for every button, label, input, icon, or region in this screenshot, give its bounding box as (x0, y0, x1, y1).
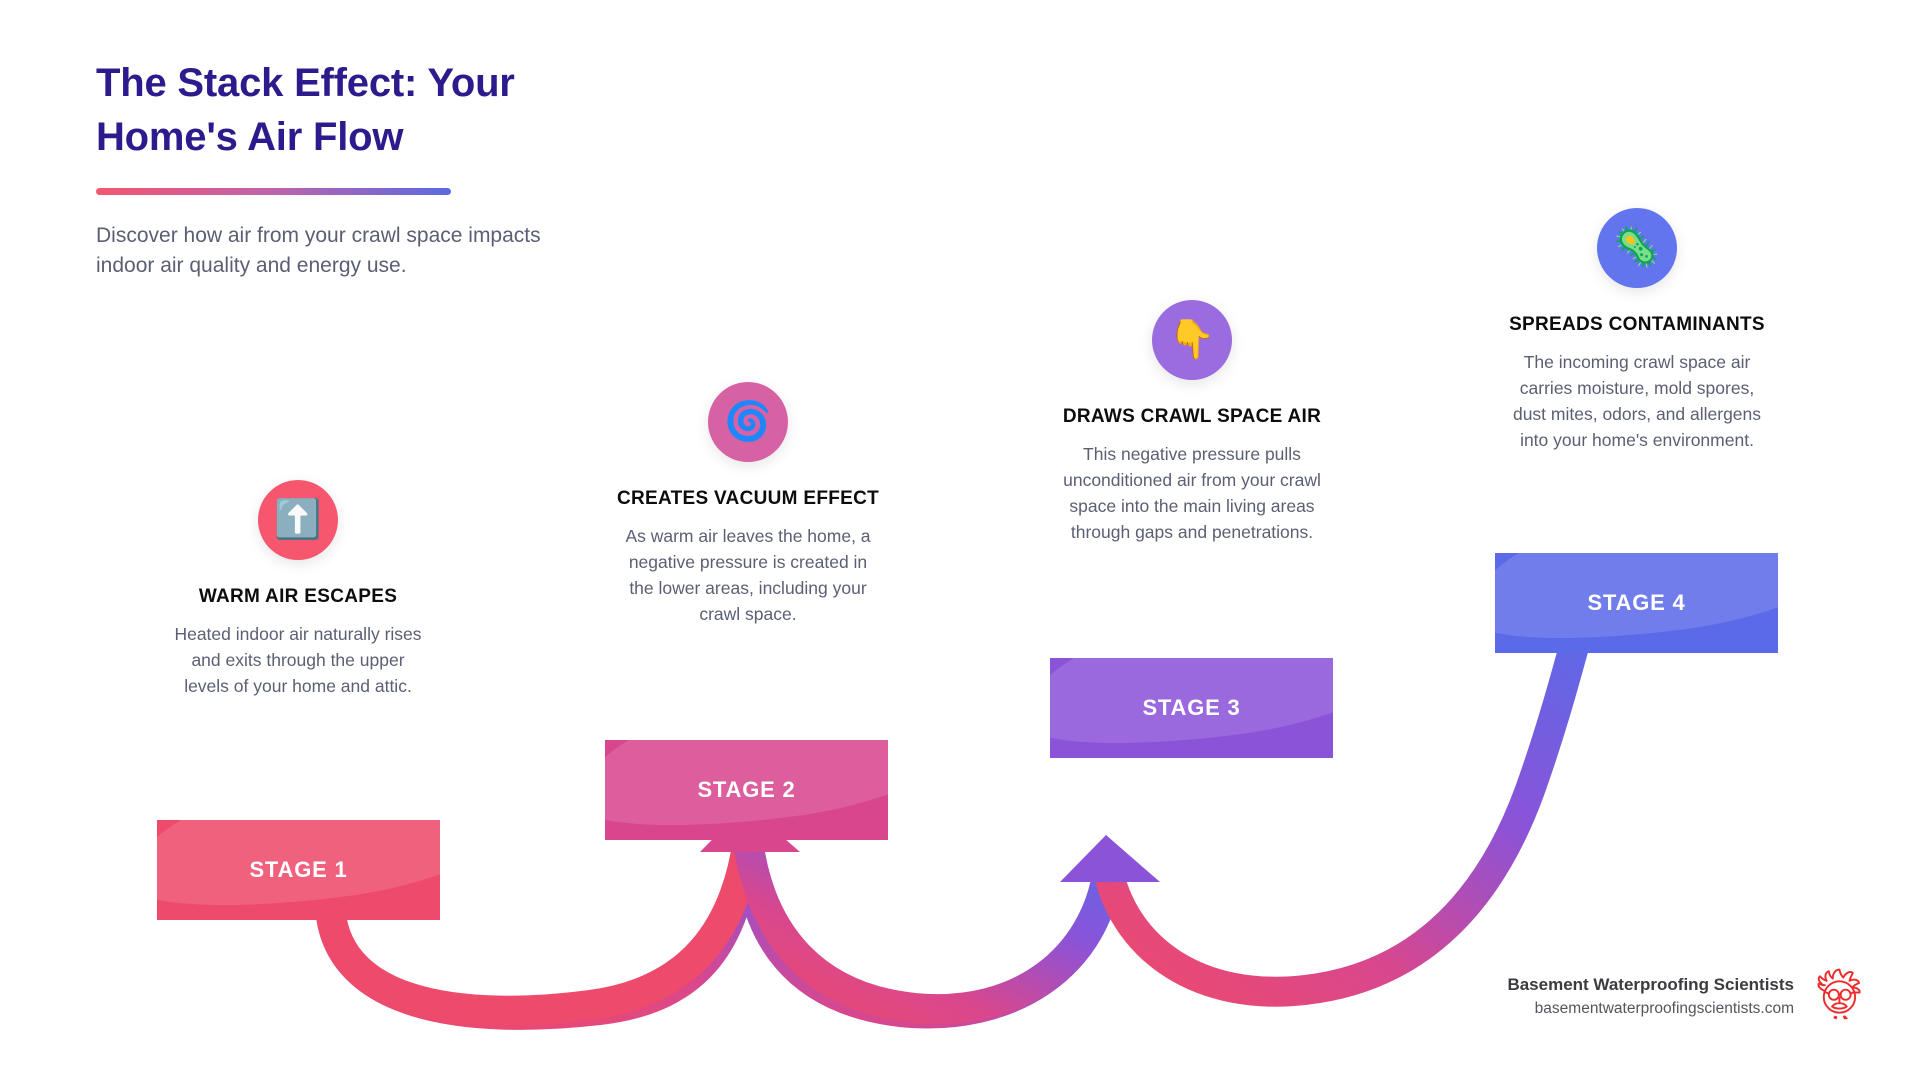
microbe-icon-glyph: 🦠 (1613, 229, 1660, 267)
up-arrow-icon-glyph: ⬆️ (274, 501, 321, 539)
stage-description-1: Heated indoor air naturally rises and ex… (148, 622, 448, 700)
stage-badge-2: STAGE 2 (697, 777, 795, 803)
page-title: The Stack Effect: Your Home's Air Flow (96, 56, 716, 164)
stage-banner-2[interactable]: STAGE 2 (605, 740, 888, 840)
stage-heading-1: WARM AIR ESCAPES (148, 586, 448, 608)
footer-block: Basement Waterproofing Scientists baseme… (1507, 966, 1868, 1028)
title-underline-rule (96, 188, 451, 195)
pointing-down-icon: 👇 (1152, 300, 1232, 380)
stage-column-4: 🦠 SPREADS CONTAMINANTS The incoming craw… (1487, 208, 1787, 454)
scientist-face-logo (1812, 966, 1868, 1028)
cyclone-icon-glyph: 🌀 (724, 403, 771, 441)
stage-column-3: 👇 DRAWS CRAWL SPACE AIR This negative pr… (1042, 300, 1342, 546)
stage-description-3: This negative pressure pulls uncondition… (1042, 442, 1342, 546)
stage-banner-3[interactable]: STAGE 3 (1050, 658, 1333, 758)
page-subtitle: Discover how air from your crawl space i… (96, 221, 576, 282)
stage-column-1: ⬆️ WARM AIR ESCAPES Heated indoor air na… (148, 480, 448, 700)
pointing-down-icon-glyph: 👇 (1168, 321, 1215, 359)
header-block: The Stack Effect: Your Home's Air Flow D… (96, 56, 716, 282)
up-arrow-icon: ⬆️ (258, 480, 338, 560)
stage-description-2: As warm air leaves the home, a negative … (598, 524, 898, 628)
stage-heading-2: CREATES VACUUM EFFECT (598, 488, 898, 510)
stage-banner-4[interactable]: STAGE 4 (1495, 553, 1778, 653)
stage-badge-1: STAGE 1 (249, 857, 347, 883)
page-title-line-2: Home's Air Flow (96, 115, 403, 159)
stage-badge-4: STAGE 4 (1587, 590, 1685, 616)
ribbon-segment-a (330, 830, 1108, 1015)
page-title-line-1: The Stack Effect: Your (96, 61, 515, 105)
footer-website-url[interactable]: basementwaterproofingscientists.com (1507, 997, 1794, 1022)
footer-brand-name: Basement Waterproofing Scientists (1507, 972, 1794, 998)
stage-heading-4: SPREADS CONTAMINANTS (1487, 314, 1787, 336)
stage-banner-1[interactable]: STAGE 1 (157, 820, 440, 920)
microbe-icon: 🦠 (1597, 208, 1677, 288)
infographic-canvas: The Stack Effect: Your Home's Air Flow D… (0, 0, 1920, 1080)
cyclone-icon: 🌀 (708, 382, 788, 462)
stage-description-4: The incoming crawl space air carries moi… (1487, 350, 1787, 454)
ribbon-arrow-stage-3 (1060, 835, 1160, 882)
stage-badge-3: STAGE 3 (1142, 695, 1240, 721)
footer-text-group: Basement Waterproofing Scientists baseme… (1507, 972, 1794, 1022)
ribbon-segment-2-3 (748, 840, 1108, 1009)
stage-column-2: 🌀 CREATES VACUUM EFFECT As warm air leav… (598, 382, 898, 628)
stage-heading-3: DRAWS CRAWL SPACE AIR (1042, 406, 1342, 428)
